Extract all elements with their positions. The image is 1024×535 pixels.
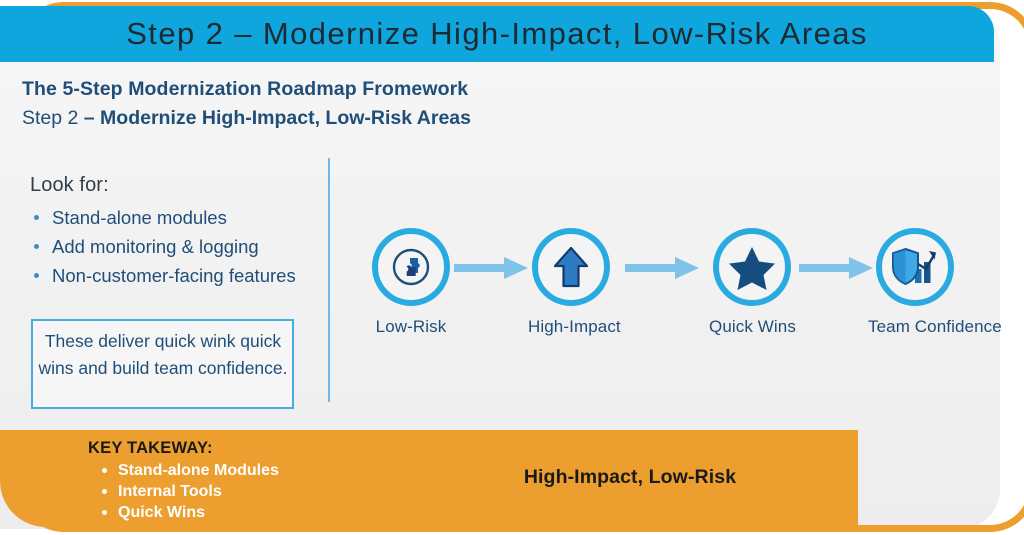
bullet-dot-icon xyxy=(34,244,39,249)
key-takeaway-label: KEY TAKEWAY: xyxy=(88,439,213,458)
list-item: Non-customer-facing features xyxy=(30,261,320,290)
page-title: Step 2 – Modernize High-Impact, Low-Risk… xyxy=(126,16,868,52)
key-takeaway-list: Stand-alone Modules Internal Tools Quick… xyxy=(100,460,279,523)
puzzle-globe-icon xyxy=(388,244,434,290)
list-item-label: Add monitoring & logging xyxy=(52,236,259,257)
list-item-label: Internal Tools xyxy=(118,483,222,500)
shield-chart-icon xyxy=(891,245,939,289)
look-for-list: Stand-alone modules Add monitoring & log… xyxy=(30,203,320,290)
flow-node-team-confidence: Team Confidence xyxy=(872,228,958,337)
bullet-dot-icon xyxy=(34,273,39,278)
flow-node-high-impact: High-Impact xyxy=(528,228,614,337)
list-item-label: Quick Wins xyxy=(118,504,205,521)
flow-node-label: Quick Wins xyxy=(709,317,795,337)
list-item-label: Stand-alone Modules xyxy=(118,462,279,479)
arrow-right-icon xyxy=(454,257,528,279)
flow-node-label: High-Impact xyxy=(528,317,614,337)
bullet-dot-icon xyxy=(102,489,107,494)
bullet-dot-icon xyxy=(102,510,107,515)
banner-tagline: High-Impact, Low-Risk xyxy=(470,466,790,489)
list-item: Internal Tools xyxy=(100,481,279,502)
list-item: Stand-alone modules xyxy=(30,203,320,232)
step-subtitle: Step 2 – Modernize High-Impact, Low-Risk… xyxy=(22,103,471,134)
step-subtitle-lead: Step 2 xyxy=(22,107,84,129)
list-item: Stand-alone Modules xyxy=(100,460,279,481)
star-icon xyxy=(728,244,776,290)
flow-node-low-risk: Low-Risk xyxy=(368,228,454,337)
key-takeaway-banner: KEY TAKEWAY: Stand-alone Modules Interna… xyxy=(0,430,858,527)
look-for-heading: Look for: xyxy=(30,174,320,197)
bullet-dot-icon xyxy=(102,468,107,473)
framework-name: The 5-Step Modernization Roadmap Fromewo… xyxy=(22,76,471,103)
callout-box: These deliver quick wink quick wins and … xyxy=(31,319,294,409)
title-band: Step 2 – Modernize High-Impact, Low-Risk… xyxy=(0,6,994,62)
list-item: Add monitoring & logging xyxy=(30,232,320,261)
bullet-dot-icon xyxy=(34,215,39,220)
subtitle-block: The 5-Step Modernization Roadmap Fromewo… xyxy=(22,76,471,134)
up-arrow-icon xyxy=(551,244,591,290)
icon-ring xyxy=(532,228,610,306)
callout-text: These deliver quick wink quick wins and … xyxy=(29,328,297,382)
icon-ring xyxy=(876,228,954,306)
flow-node-quick-wins: Quick Wins xyxy=(709,228,795,337)
list-item-label: Non-customer-facing features xyxy=(52,265,296,286)
flow-node-label: Low-Risk xyxy=(368,317,454,337)
process-flow: Low-Risk High-Impact Quick Wins xyxy=(352,228,992,348)
flow-node-label: Team Confidence xyxy=(868,317,958,337)
list-item: Quick Wins xyxy=(100,502,279,523)
arrow-right-icon xyxy=(625,257,699,279)
list-item-label: Stand-alone modules xyxy=(52,207,227,228)
icon-ring xyxy=(372,228,450,306)
arrow-right-icon xyxy=(799,257,873,279)
step-subtitle-bold: – Modernize High-Impact, Low-Risk Areas xyxy=(84,107,471,129)
look-for-section: Look for: Stand-alone modules Add monito… xyxy=(30,174,320,290)
column-divider xyxy=(328,158,330,402)
slide-canvas: Step 2 – Modernize High-Impact, Low-Risk… xyxy=(0,0,1024,535)
icon-ring xyxy=(713,228,791,306)
